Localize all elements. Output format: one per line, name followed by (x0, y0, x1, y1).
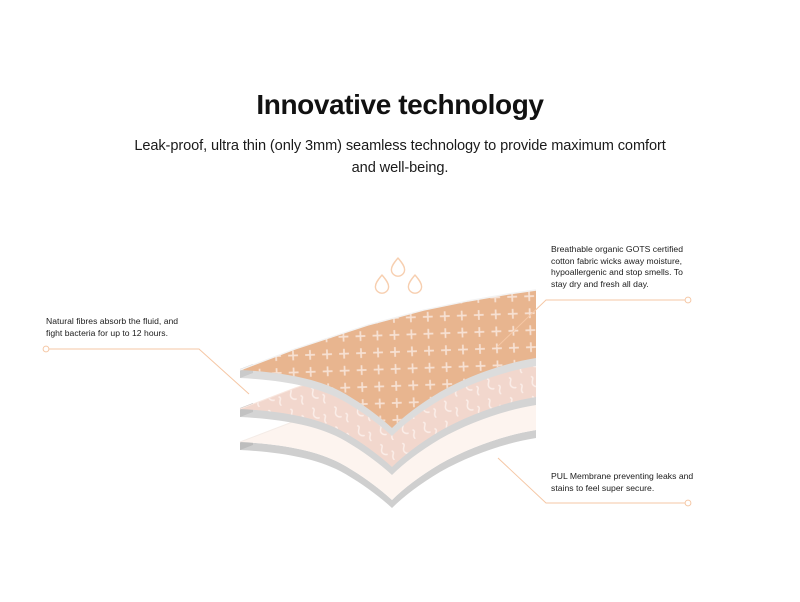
connector-dot-fibres (43, 346, 49, 352)
annotation-line: PUL Membrane preventing leaks and (551, 471, 727, 483)
layered-fabric-technology-diagram (0, 0, 800, 602)
annotation-line: stains to feel super secure. (551, 483, 727, 495)
water-droplet-icon (408, 275, 421, 293)
connector-dot-cotton (685, 297, 691, 303)
annotation-line: hypoallergenic and stop smells. To (551, 267, 723, 279)
annotation-line: Breathable organic GOTS certified (551, 244, 723, 256)
water-droplet-icon (375, 275, 388, 293)
water-droplets (375, 258, 421, 293)
annotation-line: cotton fabric wicks away moisture, (551, 256, 723, 268)
annotation-natural-fibres: Natural fibres absorb the fluid, and fig… (46, 316, 226, 339)
annotation-line: stay dry and fresh all day. (551, 279, 723, 291)
connector-dot-pul (685, 500, 691, 506)
water-droplet-icon (391, 258, 404, 276)
annotation-pul-membrane: PUL Membrane preventing leaks and stains… (551, 471, 727, 494)
connector-line-fibres (43, 346, 249, 394)
annotation-line: fight bacteria for up to 12 hours. (46, 328, 226, 340)
annotation-line: Natural fibres absorb the fluid, and (46, 316, 226, 328)
page-root: Innovative technology Leak-proof, ultra … (0, 0, 800, 602)
annotation-cotton-fabric: Breathable organic GOTS certified cotton… (551, 244, 723, 290)
